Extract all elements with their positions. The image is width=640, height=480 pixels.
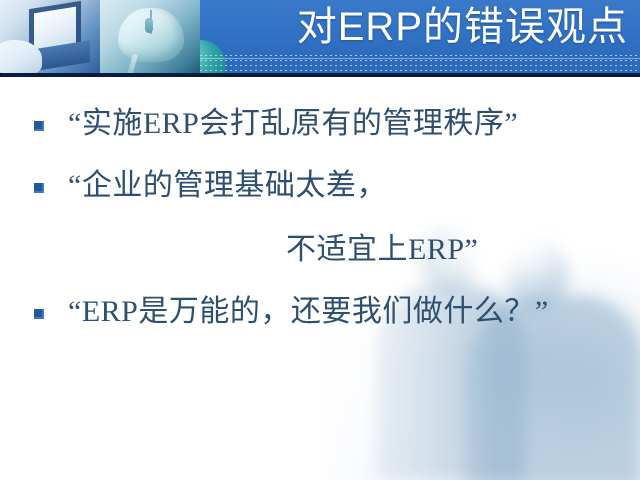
bullet-item-3-label: “ERP是万能的，还要我们做什么？”: [68, 293, 549, 331]
header-rule-dotted-1: [200, 55, 640, 56]
bullet-item-3: “ERP是万能的，还要我们做什么？”: [34, 293, 549, 331]
header-rule-dotted-2: [200, 60, 640, 61]
square-bullet-icon: [34, 309, 44, 319]
mouse-photo: [100, 0, 200, 73]
header-rule-solid: [200, 58, 640, 59]
header-blue-band: 对ERP的错误观点: [200, 0, 640, 73]
header-rule-dotted-4: [200, 70, 640, 71]
bullet-item-1: “实施ERP会打乱原有的管理秩序”: [34, 105, 518, 143]
slide-body: “实施ERP会打乱原有的管理秩序” “企业的管理基础太差， 不适宜上ERP” “…: [0, 77, 640, 480]
mouse-scroll-wheel-shape: [145, 18, 153, 33]
bullet-item-2-label: “企业的管理基础太差，: [68, 167, 387, 205]
bullet-item-2-continuation: 不适宜上ERP”: [286, 231, 478, 269]
slide: 对ERP的错误观点 “实施ERP会打乱原有的管理秩序” “企业的管理基础太差， …: [0, 0, 640, 480]
slide-header: 对ERP的错误观点: [0, 0, 640, 77]
laptop-photo: [0, 0, 100, 73]
square-bullet-icon: [34, 183, 44, 193]
header-rule-dotted-3: [200, 65, 640, 66]
square-bullet-icon: [34, 121, 44, 131]
bullet-item-1-label: “实施ERP会打乱原有的管理秩序”: [68, 105, 518, 143]
teal-arc-accent: [200, 40, 226, 73]
header-photo-strip: [0, 0, 200, 73]
bullet-item-2: “企业的管理基础太差，: [34, 167, 387, 205]
slide-title: 对ERP的错误观点: [297, 2, 628, 52]
